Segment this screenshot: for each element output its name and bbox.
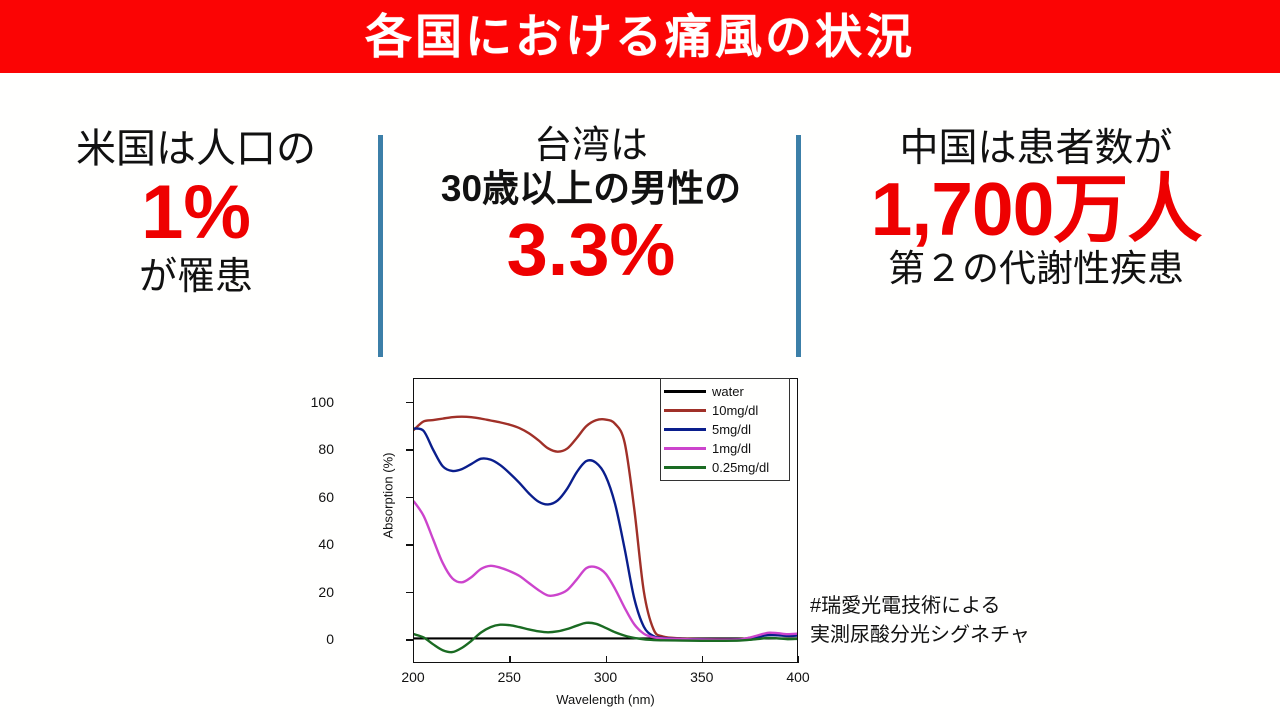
chart-x-tick-mark xyxy=(509,656,510,663)
legend-item: 5mg/dl xyxy=(664,420,785,439)
legend-item: water xyxy=(664,382,785,401)
stat-column-china: 中国は患者数が 1,700万人 第２の代謝性疾患 xyxy=(812,120,1260,370)
legend-swatch-water xyxy=(664,390,706,393)
chart-x-tick-label: 350 xyxy=(672,669,732,685)
chart-x-tick-label: 200 xyxy=(383,669,443,685)
chart-y-tick-label: 0 xyxy=(274,631,334,647)
chart-y-tick-mark xyxy=(406,402,413,403)
chart-x-tick-mark xyxy=(702,656,703,663)
stats-row: 米国は人口の 1% が罹患 台湾は 30歳以上の男性の 3.3% 中国は患者数が… xyxy=(0,120,1280,370)
absorption-spectrum-chart: Absorption (%) water 10mg/dl 5mg/dl 1mg/… xyxy=(330,370,810,715)
legend-label-5mgdl: 5mg/dl xyxy=(712,422,751,437)
stat-foot-china: 第２の代謝性疾患 xyxy=(888,249,1184,289)
stat-lead-china: 中国は患者数が xyxy=(899,128,1172,170)
legend-label-1mgdl: 1mg/dl xyxy=(712,441,751,456)
legend-item: 0.25mg/dl xyxy=(664,458,785,477)
stat-foot-usa: が罹患 xyxy=(139,257,253,298)
chart-x-tick-mark xyxy=(606,656,607,663)
chart-y-tick-label: 40 xyxy=(274,536,334,552)
chart-y-tick-mark xyxy=(406,497,413,498)
chart-line-1mgdl xyxy=(414,502,797,640)
column-divider-left xyxy=(378,135,383,357)
stat-value-usa: 1% xyxy=(141,175,251,251)
stat-value-taiwan: 3.3% xyxy=(507,213,676,287)
slide-title-banner: 各国における痛風の状況 xyxy=(0,0,1280,73)
chart-y-tick-mark xyxy=(406,449,413,450)
chart-y-tick-label: 60 xyxy=(274,489,334,505)
annotation-line-1: #瑞愛光電技術による xyxy=(810,592,1030,621)
chart-y-axis-label: Absorption (%) xyxy=(381,416,396,576)
stat-column-usa: 米国は人口の 1% が罹患 xyxy=(22,120,370,370)
chart-x-tick-label: 300 xyxy=(576,669,636,685)
legend-label-10mgdl: 10mg/dl xyxy=(712,403,758,418)
chart-y-tick-label: 100 xyxy=(274,394,334,410)
chart-y-tick-mark xyxy=(406,544,413,545)
legend-swatch-5mgdl xyxy=(664,428,706,431)
chart-x-tick-label: 250 xyxy=(479,669,539,685)
column-divider-right xyxy=(796,135,801,357)
stat-lead-taiwan: 台湾は xyxy=(534,126,648,167)
legend-swatch-10mgdl xyxy=(664,409,706,412)
legend-item: 1mg/dl xyxy=(664,439,785,458)
chart-y-tick-label: 20 xyxy=(274,584,334,600)
chart-y-tick-mark xyxy=(406,639,413,640)
chart-x-axis-label: Wavelength (nm) xyxy=(413,692,798,707)
chart-y-tick-mark xyxy=(406,592,413,593)
chart-x-tick-mark xyxy=(798,656,799,663)
chart-annotation: #瑞愛光電技術による 実測尿酸分光シグネチャ xyxy=(810,592,1030,650)
annotation-line-2: 実測尿酸分光シグネチャ xyxy=(810,621,1030,650)
legend-swatch-1mgdl xyxy=(664,447,706,450)
legend-label-025mgdl: 0.25mg/dl xyxy=(712,460,769,475)
chart-legend: water 10mg/dl 5mg/dl 1mg/dl 0.25mg/dl xyxy=(660,378,790,481)
chart-x-tick-mark xyxy=(413,656,414,663)
legend-label-water: water xyxy=(712,384,744,399)
chart-x-tick-label: 400 xyxy=(768,669,828,685)
page-title: 各国における痛風の状況 xyxy=(365,13,915,60)
stat-value-china: 1,700万人 xyxy=(871,172,1202,247)
stat-lead2-taiwan: 30歳以上の男性の xyxy=(441,169,741,209)
chart-y-tick-label: 80 xyxy=(274,441,334,457)
legend-item: 10mg/dl xyxy=(664,401,785,420)
stat-column-taiwan: 台湾は 30歳以上の男性の 3.3% xyxy=(392,120,790,370)
stat-lead-usa: 米国は人口の xyxy=(76,128,316,171)
legend-swatch-025mgdl xyxy=(664,466,706,469)
